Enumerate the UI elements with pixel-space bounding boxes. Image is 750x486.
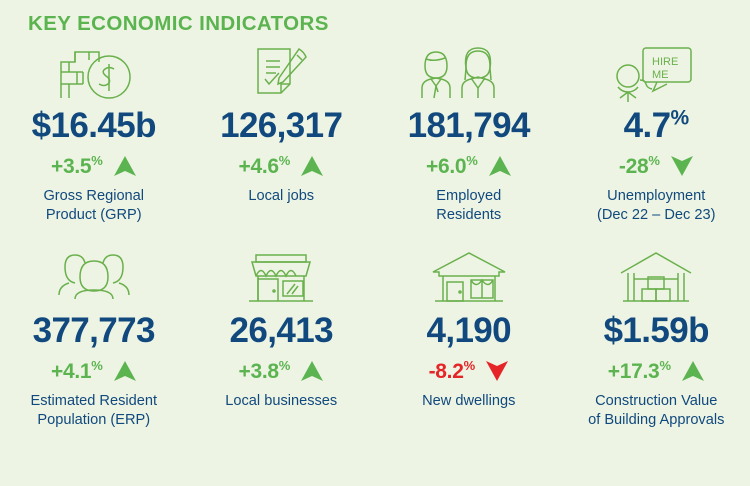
change-row: +4.6% [238,154,324,178]
arrow-up-icon [681,360,705,382]
indicator-value: $1.59b [604,313,709,348]
group-of-people-icon [51,249,137,311]
change-value: +3.5% [51,156,103,177]
arrow-up-icon [300,155,324,177]
person-hire-me-speech-bubble-icon: HIRE ME [610,44,702,106]
indicator-value: 4,190 [426,313,511,348]
indicator-value: $16.45b [32,108,156,143]
indicator-label: Employed Residents [436,187,501,226]
indicator-label: Gross Regional Product (GRP) [43,187,144,226]
indicator-card-local-businesses: 26,413 +3.8% Local businesses [188,249,376,454]
change-value: +3.8% [238,361,290,382]
indicator-card-new-dwellings: 4,190 -8.2% New dwellings [375,249,563,454]
indicator-card-grp: $16.45b +3.5% Gross Regional Product (GR… [0,44,188,249]
arrow-down-icon [485,360,509,382]
hire-text: HIRE [652,56,678,68]
change-row: +4.1% [51,359,137,383]
house-icon [429,249,509,311]
document-pen-checklist-icon [245,44,317,106]
two-workers-icon [421,44,517,106]
indicator-card-local-jobs: 126,317 +4.6% Local jobs [188,44,376,249]
arrow-up-icon [113,155,137,177]
change-value: +17.3% [608,361,671,382]
warehouse-boxes-icon [617,249,695,311]
arrow-up-icon [488,155,512,177]
change-value: -28% [619,156,660,177]
indicator-card-erp: 377,773 +4.1% Estimated Resident Populat… [0,249,188,454]
change-value: +4.1% [51,361,103,382]
indicator-value: 26,413 [230,313,333,348]
indicator-value: 181,794 [408,108,530,143]
change-row: -8.2% [429,359,509,383]
indicator-card-unemployment: HIRE ME 4.7% -28% Unemployment (Dec 22 –… [563,44,750,249]
indicator-label: Unemployment (Dec 22 – Dec 23) [597,187,715,226]
me-text: ME [652,69,669,81]
arrow-down-icon [670,155,694,177]
indicator-card-employed-residents: 181,794 +6.0% Employed Residents [375,44,563,249]
indicator-grid: $16.45b +3.5% Gross Regional Product (GR… [0,44,750,454]
indicator-label: Estimated Resident Population (ERP) [30,392,157,431]
factory-dollar-coin-icon [53,44,135,106]
indicator-value: 4.7% [624,108,689,143]
indicator-label: Construction Value of Building Approvals [588,392,724,431]
storefront-shop-icon [242,249,320,311]
change-value: +4.6% [238,156,290,177]
change-row: +3.5% [51,154,137,178]
arrow-up-icon [113,360,137,382]
indicator-value: 377,773 [33,313,155,348]
key-economic-indicators-infographic: KEY ECONOMIC INDICATORS $16.45b +3.5% [0,0,750,486]
change-row: +3.8% [238,359,324,383]
change-row: +6.0% [426,154,512,178]
change-row: -28% [619,154,694,178]
indicator-label: Local businesses [225,392,337,411]
page-title: KEY ECONOMIC INDICATORS [28,12,329,36]
change-row: +17.3% [608,359,705,383]
change-value: -8.2% [429,361,475,382]
indicator-card-construction-value: $1.59b +17.3% Construction Value of Buil… [563,249,750,454]
arrow-up-icon [300,360,324,382]
change-value: +6.0% [426,156,478,177]
indicator-label: New dwellings [422,392,515,411]
indicator-label: Local jobs [248,187,314,206]
indicator-value: 126,317 [220,108,342,143]
